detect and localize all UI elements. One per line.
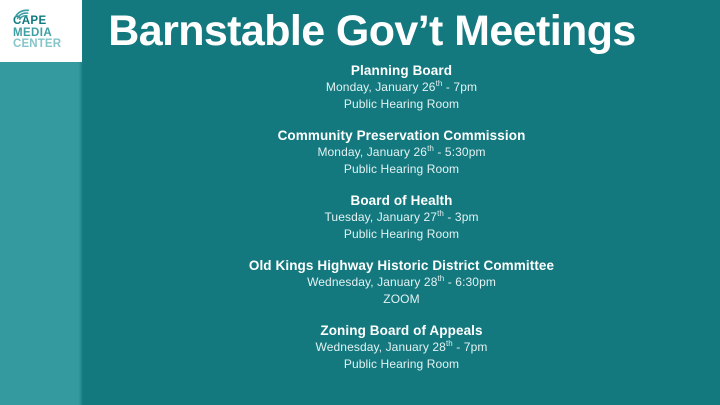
meeting-datetime: Wednesday, January 28th - 7pm [83,339,720,356]
meetings-slide: CAPE MEDIA CENTER Barnstable Gov’t Meeti… [0,0,720,405]
meeting-name: Zoning Board of Appeals [83,322,720,339]
meeting-name: Board of Health [83,192,720,209]
meeting-datetime: Monday, January 26th - 5:30pm [83,144,720,161]
meeting-time: - 6:30pm [444,275,496,289]
meeting-location: ZOOM [83,291,720,308]
meeting-date: Monday, January 26 [317,145,427,159]
list-item: Old Kings Highway Historic District Comm… [83,257,720,308]
meeting-name: Community Preservation Commission [83,127,720,144]
meeting-time: - 7pm [442,80,477,94]
meeting-time: - 5:30pm [434,145,486,159]
page-title: Barnstable Gov’t Meetings [0,0,720,62]
meeting-date-ordinal: th [427,144,434,153]
meeting-datetime: Monday, January 26th - 7pm [83,79,720,96]
meetings-list: Planning Board Monday, January 26th - 7p… [83,58,720,403]
meeting-time: - 7pm [453,340,488,354]
list-item: Planning Board Monday, January 26th - 7p… [83,62,720,113]
meeting-date-ordinal: th [437,209,444,218]
meeting-date: Monday, January 26 [326,80,436,94]
meeting-location: Public Hearing Room [83,96,720,113]
list-item: Board of Health Tuesday, January 27th - … [83,192,720,243]
list-item: Community Preservation Commission Monday… [83,127,720,178]
meeting-location: Public Hearing Room [83,356,720,373]
meeting-date: Wednesday, January 28 [307,275,437,289]
meeting-datetime: Wednesday, January 28th - 6:30pm [83,274,720,291]
meeting-time: - 3pm [444,210,479,224]
meeting-date-ordinal: th [446,339,453,348]
list-item: Zoning Board of Appeals Wednesday, Janua… [83,322,720,373]
meeting-date: Tuesday, January 27 [324,210,437,224]
meeting-name: Planning Board [83,62,720,79]
meeting-location: Public Hearing Room [83,226,720,243]
meeting-datetime: Tuesday, January 27th - 3pm [83,209,720,226]
meeting-location: Public Hearing Room [83,161,720,178]
meeting-name: Old Kings Highway Historic District Comm… [83,257,720,274]
meeting-date: Wednesday, January 28 [316,340,446,354]
